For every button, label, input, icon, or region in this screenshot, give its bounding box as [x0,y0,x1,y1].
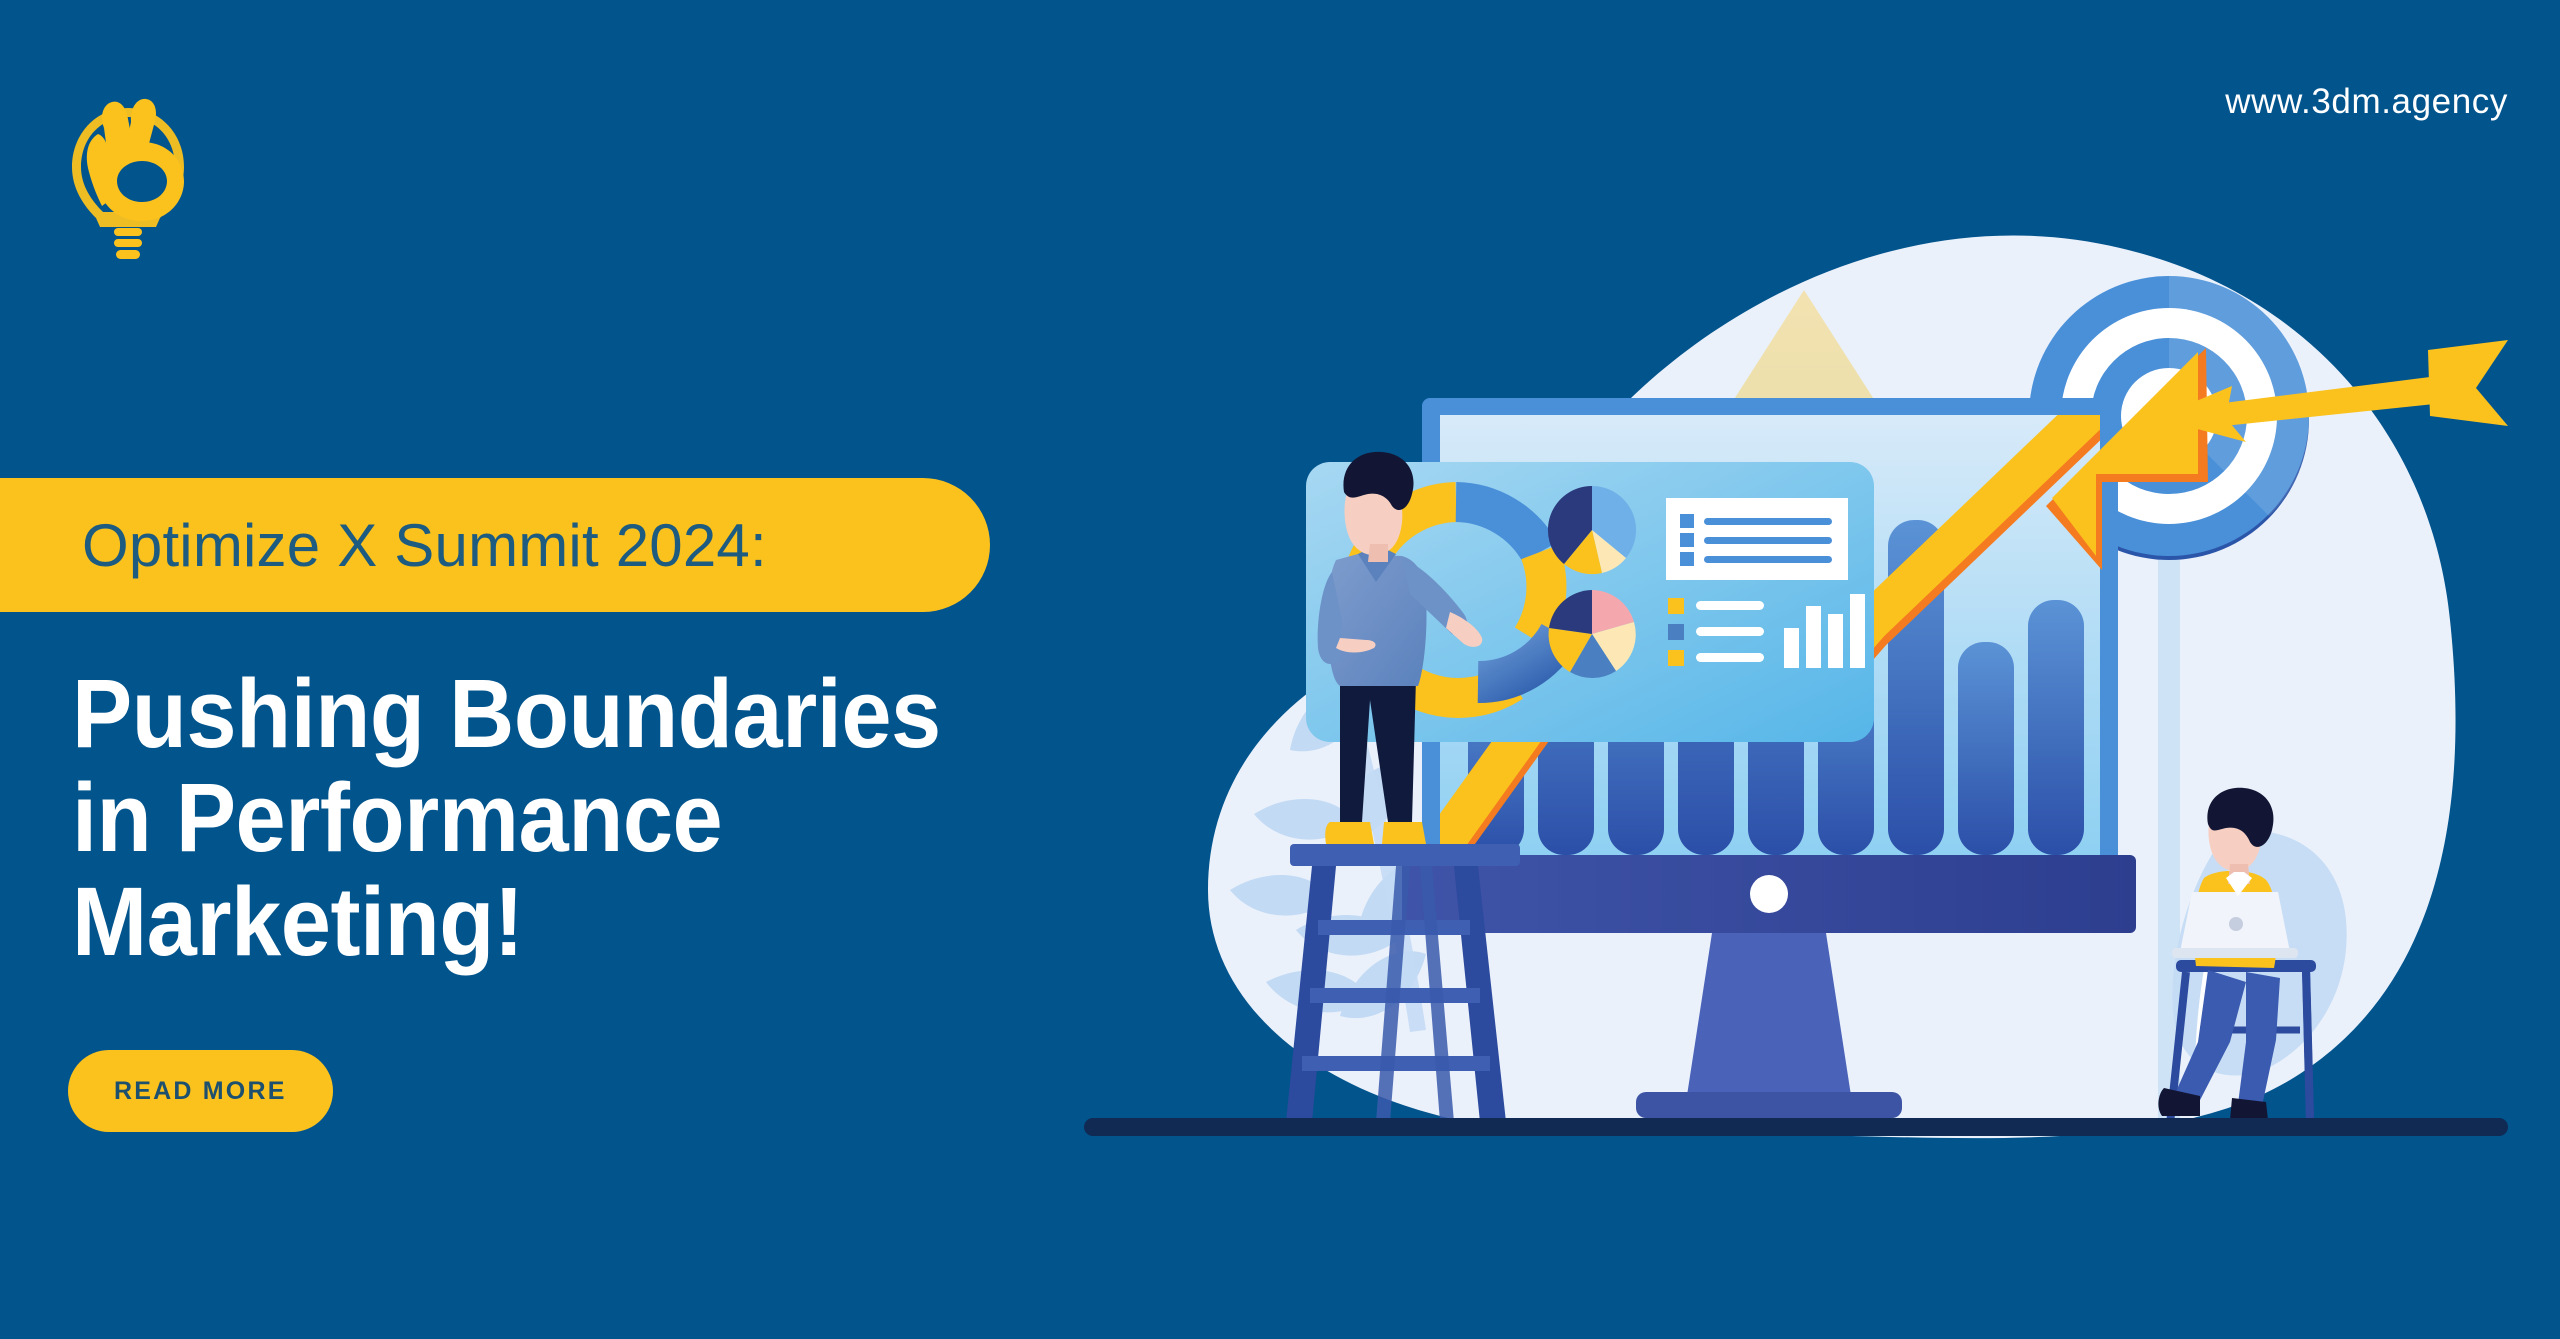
headline-line-2: in Performance [72,766,1086,870]
eyebrow-label: Optimize X Summit 2024: [82,511,767,580]
dashboard-pie-chart-top [1548,486,1636,574]
ok-hand-lightbulb-logo-icon[interactable] [58,88,198,268]
site-url[interactable]: www.3dm.agency [2225,82,2508,122]
dashboard-list-panel [1666,498,1848,580]
performance-marketing-illustration [1040,230,2560,1230]
read-more-button[interactable]: READ MORE [68,1050,333,1132]
ground-line [1084,1118,2508,1136]
eyebrow-pill: Optimize X Summit 2024: [0,478,990,612]
dashboard-pie-chart-bottom [1549,590,1636,678]
headline-line-3: Marketing! [72,870,1086,974]
headline-line-1: Pushing Boundaries [72,662,1086,766]
page-title: Pushing Boundaries in Performance Market… [72,662,1086,973]
promo-banner: www.3dm.agency Optimize X Summit 2024: P… [0,0,2560,1339]
dashboard-legend-rows [1668,598,1764,666]
